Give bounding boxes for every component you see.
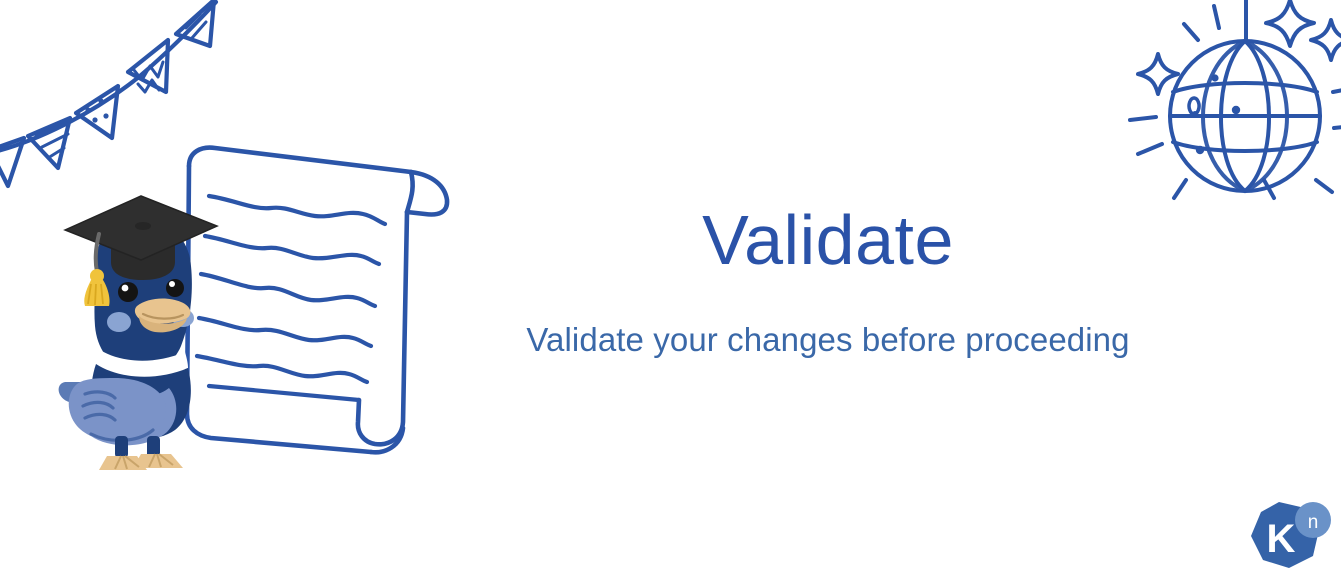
- disco-ball-decoration: [1118, 0, 1341, 227]
- heptagon-shape: [1251, 502, 1319, 568]
- logo-letter-n: n: [1308, 512, 1319, 533]
- validate-splash-screen: Validate Validate your changes before pr…: [0, 0, 1341, 585]
- page-subtitle: Validate your changes before proceeding: [470, 275, 1186, 358]
- superscript-circle: [1295, 502, 1331, 538]
- kubernetes-badge-logo: K n: [1243, 498, 1335, 578]
- party-bunting-decoration: [0, 0, 230, 190]
- logo-letter-k: K: [1267, 517, 1296, 561]
- graduate-bird-mascot: [55, 186, 230, 471]
- splash-text-block: Validate Validate your changes before pr…: [470, 205, 1186, 358]
- document-scroll-illustration: [175, 138, 465, 463]
- page-title: Validate: [470, 205, 1186, 275]
